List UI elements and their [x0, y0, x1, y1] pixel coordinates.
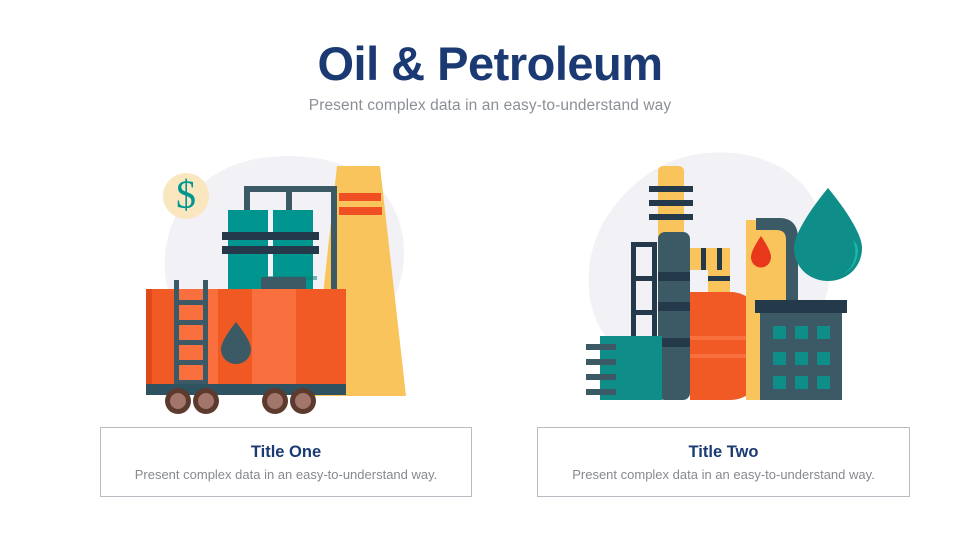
slide-root: Oil & Petroleum Present complex data in … — [0, 0, 980, 551]
oil-refinery-illustration — [570, 148, 870, 416]
card-title-two[interactable]: Title Two Present complex data in an eas… — [537, 427, 910, 497]
page-subtitle: Present complex data in an easy-to-under… — [0, 97, 980, 115]
svg-text:$: $ — [176, 172, 196, 217]
dark-distillation-tower — [658, 232, 690, 400]
dollar-coin-icon: $ — [163, 172, 209, 219]
card-title: Title Two — [689, 443, 759, 462]
teal-heat-exchanger — [586, 336, 662, 400]
card-title: Title One — [251, 443, 321, 462]
card-description: Present complex data in an easy-to-under… — [572, 467, 875, 482]
oil-tanker-wagon-illustration: $ — [140, 148, 440, 416]
factory-building — [755, 300, 847, 400]
card-title-one[interactable]: Title One Present complex data in an eas… — [100, 427, 472, 497]
card-description: Present complex data in an easy-to-under… — [135, 467, 438, 482]
header: Oil & Petroleum Present complex data in … — [0, 38, 980, 115]
page-title: Oil & Petroleum — [0, 38, 980, 90]
